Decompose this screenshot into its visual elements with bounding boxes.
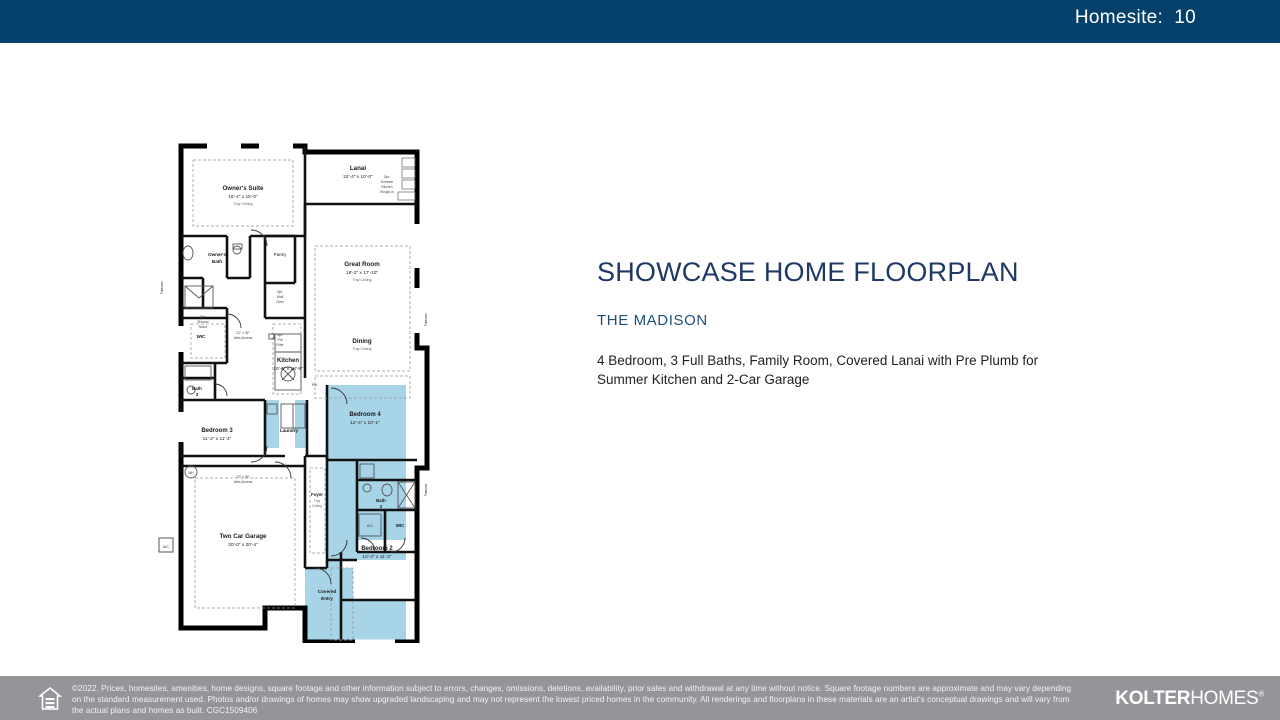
svg-text:Covered: Covered [318,589,337,594]
svg-text:Bedroom 3: Bedroom 3 [201,428,233,434]
svg-text:Transom: Transom [424,483,428,496]
svg-text:Summer: Summer [381,180,395,184]
plan-description: 4 Bedroom, 3 Full Baths, Family Room, Co… [597,351,1084,390]
svg-text:Foyer: Foyer [311,492,323,497]
svg-text:Tray: Tray [314,499,321,503]
svg-text:Great Room: Great Room [344,261,380,268]
svg-text:11'-2" x 11'-4": 11'-2" x 11'-4" [203,436,232,442]
svg-text:Tray Ceiling: Tray Ceiling [233,202,252,206]
svg-text:Bath: Bath [212,259,222,264]
svg-text:16'-4" x 15'-0": 16'-4" x 15'-0" [228,194,258,200]
svg-text:Entry: Entry [321,596,333,601]
svg-text:WIC: WIC [396,523,405,528]
svg-text:Opt.: Opt. [277,290,283,294]
svg-text:WH: WH [188,471,194,475]
svg-text:22'-4" x 10'-0": 22'-4" x 10'-0" [343,174,373,180]
svg-text:Lanai: Lanai [350,165,366,172]
logo-trademark: ® [1258,690,1264,699]
logo-kolter: KOLTER [1115,688,1190,709]
kolter-homes-logo: KOLTERHOMES® [1115,688,1264,710]
svg-text:20'-0" x 20'-4": 20'-0" x 20'-4" [228,542,258,548]
footer-disclaimer: ©2022. Prices, homesites, amenities, hom… [72,684,1082,716]
svg-text:Transom: Transom [424,313,428,326]
svg-text:Opt.: Opt. [277,333,283,337]
homesite-label: Homesite: 10 [1075,7,1196,29]
svg-text:Opt.: Opt. [384,175,390,179]
plan-name: THE MADISON [597,312,1157,329]
svg-text:Two Car Garage: Two Car Garage [220,533,268,540]
svg-text:Bedroom 2: Bedroom 2 [361,546,393,552]
svg-text:12'-4" x 10'-1": 12'-4" x 10'-1" [350,420,380,426]
svg-text:Ref.: Ref. [312,383,318,387]
svg-text:Kitchen: Kitchen [277,358,299,364]
svg-text:Owner's: Owner's [208,252,226,257]
floorplan-info-panel: SHOWCASE HOME FLOORPLAN THE MADISON 4 Be… [597,258,1157,390]
svg-text:Bedroom 4: Bedroom 4 [349,412,381,418]
svg-text:A/C: A/C [367,524,374,528]
svg-text:19'-2" x 17'-10": 19'-2" x 17'-10" [346,270,378,276]
floorplan-image: Owner's Suite 16'-4" x 15'-0" Tray Ceili… [155,138,445,643]
svg-text:Wall: Wall [277,295,284,299]
svg-text:10'-0" x 18'-8": 10'-0" x 18'-8" [273,366,303,372]
svg-text:Laundry: Laundry [280,428,299,433]
svg-text:Tray Ceiling: Tray Ceiling [352,347,371,351]
header-bar: Homesite: 10 [0,0,1280,43]
svg-text:Kitchen: Kitchen [381,185,392,189]
svg-text:Tray Ceiling: Tray Ceiling [352,278,371,282]
svg-text:Bath: Bath [192,386,202,391]
svg-text:Attic Access: Attic Access [234,336,253,340]
svg-text:22" x 36": 22" x 36" [236,331,250,335]
svg-text:Transom: Transom [160,281,164,294]
svg-text:Bath: Bath [376,498,386,503]
svg-text:Ceiling: Ceiling [312,504,322,508]
svg-text:Pantry: Pantry [274,252,287,257]
logo-homes: HOMES [1190,688,1258,709]
svg-text:12'-4" x 11'-2": 12'-4" x 11'-2" [362,554,391,560]
svg-text:Niche: Niche [199,325,208,329]
svg-text:Owner's Suite: Owner's Suite [222,185,264,192]
svg-text:Rough-in: Rough-in [380,190,394,194]
equal-housing-opportunity-icon [38,686,62,712]
svg-text:Shower: Shower [197,320,209,324]
svg-text:Attic Access: Attic Access [234,480,253,484]
svg-text:Oven: Oven [276,300,284,304]
svg-text:22" x 36": 22" x 36" [236,475,250,479]
svg-text:WIC: WIC [197,334,207,339]
svg-text:Filler: Filler [276,343,284,347]
svg-text:Dining: Dining [352,338,371,345]
svg-text:A/C: A/C [163,545,169,549]
page-title: SHOWCASE HOME FLOORPLAN [597,258,1157,288]
svg-text:Opt.: Opt. [200,315,206,319]
svg-text:Pot: Pot [277,338,282,342]
